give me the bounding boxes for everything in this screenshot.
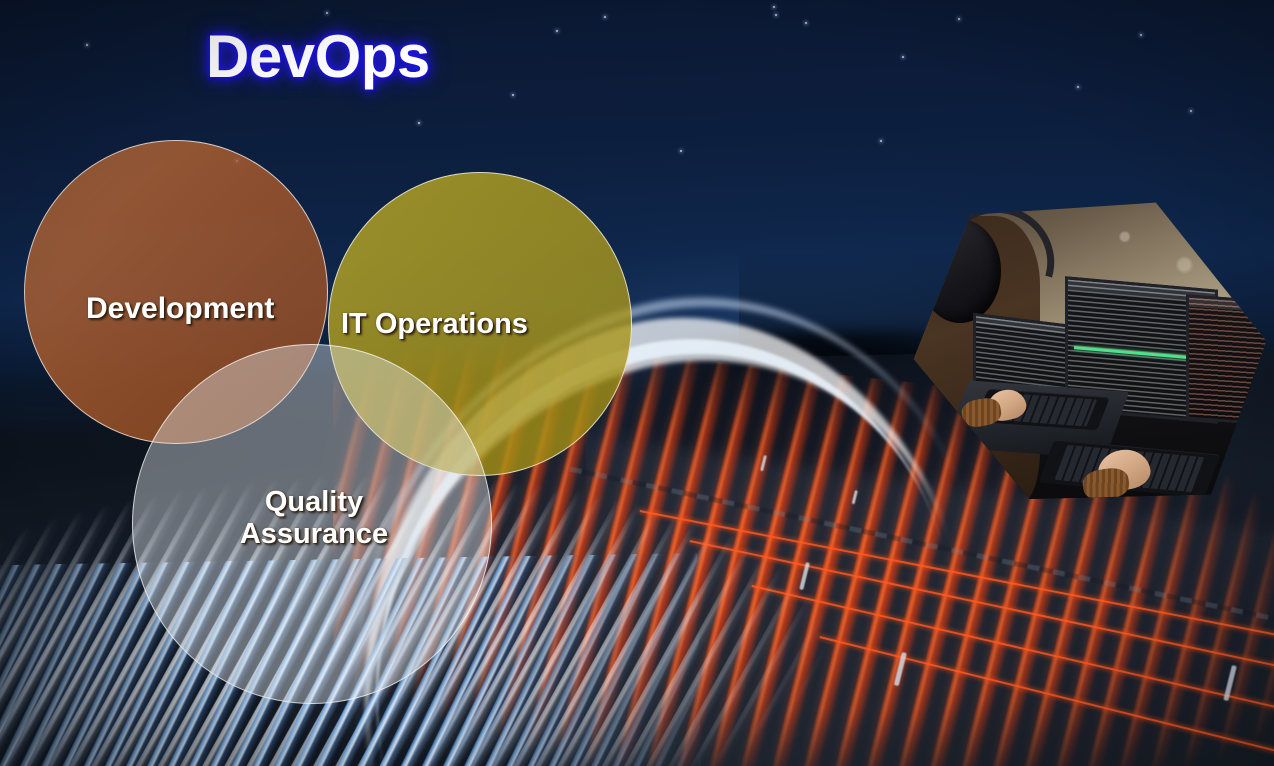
devops-slide: Development IT Operations Quality Assura… [0,0,1274,766]
venn-label-it-operations: IT Operations [341,308,528,340]
page-title: DevOps [206,22,430,91]
venn-label-development: Development [86,292,274,326]
venn-label-quality-assurance: Quality Assurance [225,486,403,551]
